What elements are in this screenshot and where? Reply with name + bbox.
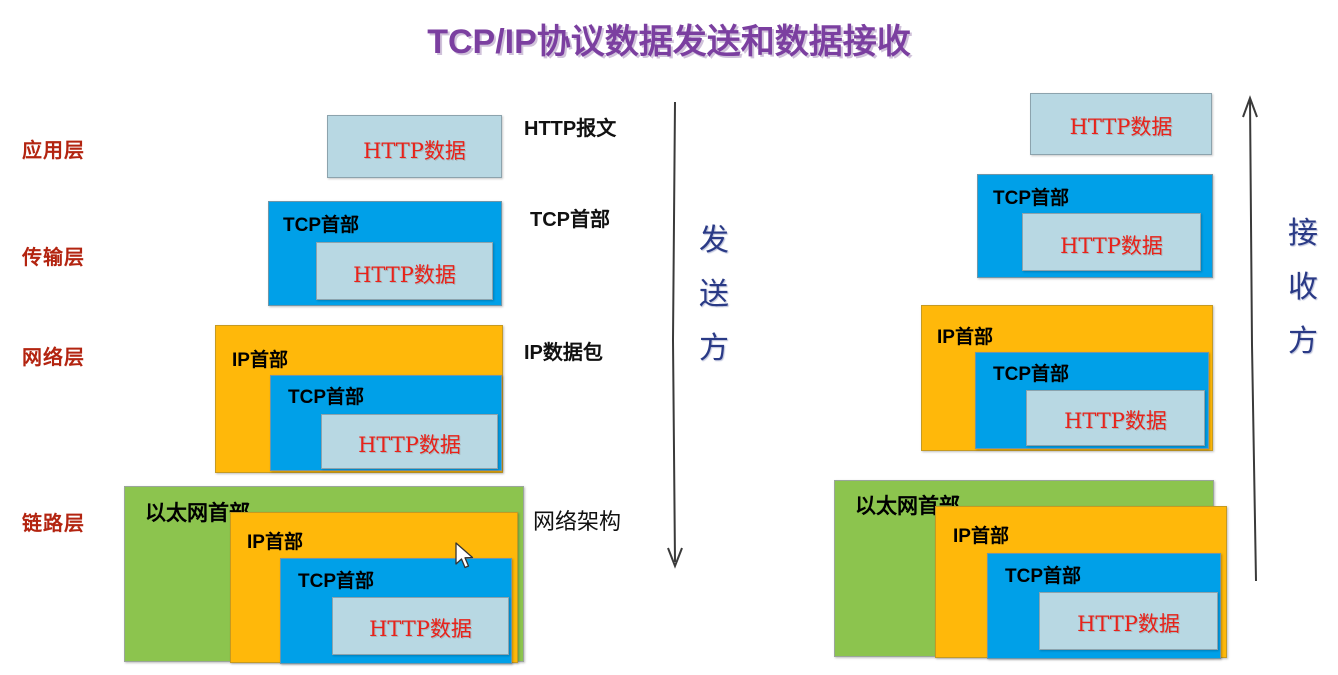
sender-network-data-box: HTTP数据 bbox=[321, 414, 498, 469]
ip-header-label: IP首部 bbox=[937, 322, 993, 349]
ip-header-label: IP首部 bbox=[953, 521, 1009, 548]
sender-direction-char-2: 送 bbox=[692, 268, 736, 322]
page-title: TCP/IP协议数据发送和数据接收 bbox=[0, 14, 1338, 63]
tcp-header-label: TCP首部 bbox=[283, 210, 359, 237]
tcp-header-label: TCP首部 bbox=[1005, 561, 1081, 588]
http-data-label: HTTP数据 bbox=[333, 613, 508, 643]
layer-label-link: 链路层 bbox=[22, 507, 85, 536]
receiver-direction-char-1: 接 bbox=[1281, 207, 1325, 261]
http-data-label: HTTP数据 bbox=[1027, 405, 1204, 435]
tcp-header-label: TCP首部 bbox=[993, 183, 1069, 210]
receiver-direction-char-2: 收 bbox=[1281, 261, 1325, 315]
diagram-canvas: TCP/IP协议数据发送和数据接收 应用层 传输层 网络层 链路层 HTTP数据… bbox=[0, 0, 1338, 675]
receiver-up-arrow-icon bbox=[1235, 95, 1265, 585]
layer-label-application: 应用层 bbox=[22, 134, 85, 163]
sender-direction-char-1: 发 bbox=[692, 214, 736, 268]
layer-label-network: 网络层 bbox=[22, 341, 85, 370]
sender-link-ip-box: IP首部 TCP首部 HTTP数据 bbox=[230, 512, 518, 663]
receiver-direction-char-3: 方 bbox=[1281, 315, 1325, 369]
ip-header-label: IP首部 bbox=[247, 527, 303, 554]
sender-down-arrow-icon bbox=[660, 100, 690, 580]
http-data-label: HTTP数据 bbox=[1040, 608, 1217, 638]
sender-transport-data-box: HTTP数据 bbox=[316, 242, 493, 300]
sender-app-data-box: HTTP数据 bbox=[327, 115, 502, 178]
sender-direction-char-3: 方 bbox=[692, 322, 736, 376]
sender-link-tcp-box: TCP首部 HTTP数据 bbox=[280, 558, 512, 664]
receiver-ip-box: IP首部 TCP首部 HTTP数据 bbox=[921, 305, 1213, 451]
mouse-pointer-icon bbox=[455, 542, 477, 572]
receiver-direction-label: 接 收 方 bbox=[1281, 207, 1325, 369]
http-data-label: HTTP数据 bbox=[322, 429, 497, 459]
annotation-network-frame: 网络架构 bbox=[533, 504, 621, 536]
receiver-link-tcp-box: TCP首部 HTTP数据 bbox=[987, 553, 1221, 659]
http-data-label: HTTP数据 bbox=[1023, 230, 1200, 260]
annotation-http-message: HTTP报文 bbox=[524, 112, 616, 141]
receiver-app-data-box: HTTP数据 bbox=[1030, 93, 1212, 155]
receiver-link-data-box: HTTP数据 bbox=[1039, 592, 1218, 650]
sender-tcp-box: TCP首部 HTTP数据 bbox=[268, 201, 502, 306]
annotation-tcp-header: TCP首部 bbox=[530, 203, 610, 232]
sender-link-data-box: HTTP数据 bbox=[332, 597, 509, 655]
http-data-label: HTTP数据 bbox=[328, 135, 501, 165]
receiver-transport-data-box: HTTP数据 bbox=[1022, 213, 1201, 271]
annotation-ip-packet: IP数据包 bbox=[524, 336, 603, 365]
sender-ip-box: IP首部 TCP首部 HTTP数据 bbox=[215, 325, 503, 473]
receiver-ethernet-box: 以太网首部 IP首部 TCP首部 HTTP数据 bbox=[834, 480, 1214, 657]
tcp-header-label: TCP首部 bbox=[288, 382, 364, 409]
receiver-network-data-box: HTTP数据 bbox=[1026, 390, 1205, 446]
ip-header-label: IP首部 bbox=[232, 345, 288, 372]
sender-network-tcp-box: TCP首部 HTTP数据 bbox=[270, 375, 502, 471]
http-data-label: HTTP数据 bbox=[317, 259, 492, 289]
receiver-link-ip-box: IP首部 TCP首部 HTTP数据 bbox=[935, 506, 1227, 658]
tcp-header-label: TCP首部 bbox=[993, 359, 1069, 386]
layer-label-transport: 传输层 bbox=[22, 241, 85, 270]
sender-direction-label: 发 送 方 bbox=[692, 214, 736, 376]
receiver-tcp-box: TCP首部 HTTP数据 bbox=[977, 174, 1213, 278]
tcp-header-label: TCP首部 bbox=[298, 566, 374, 593]
receiver-network-tcp-box: TCP首部 HTTP数据 bbox=[975, 352, 1209, 449]
sender-ethernet-box: 以太网首部 IP首部 TCP首部 HTTP数据 bbox=[124, 486, 524, 662]
http-data-label: HTTP数据 bbox=[1031, 111, 1211, 141]
